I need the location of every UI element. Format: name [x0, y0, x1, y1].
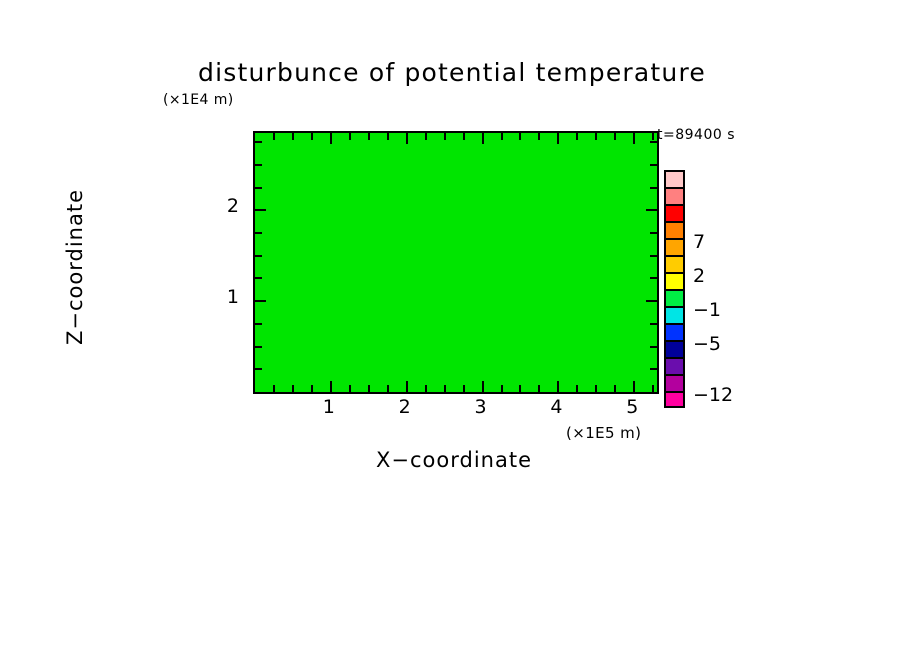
x-tick [406, 133, 408, 144]
contour-plot-area [253, 131, 659, 394]
x-tick [576, 385, 578, 392]
x-axis-title: X−coordinate [253, 448, 655, 472]
x-tick [501, 385, 503, 392]
x-tick-label: 2 [385, 396, 425, 418]
y-tick [650, 368, 657, 370]
x-tick [557, 381, 559, 392]
y-tick [650, 187, 657, 189]
x-tick [633, 381, 635, 392]
x-tick [368, 133, 370, 140]
y-tick [650, 277, 657, 279]
y-tick [255, 346, 262, 348]
y-tick [255, 323, 262, 325]
y-tick [650, 141, 657, 143]
x-tick-label: 4 [536, 396, 576, 418]
colorbar-label: 2 [693, 265, 705, 287]
x-tick [349, 133, 351, 140]
colorbar-band [664, 357, 685, 374]
y-tick [650, 255, 657, 257]
colorbar-band [664, 255, 685, 272]
x-tick [406, 381, 408, 392]
colorbar-band [664, 323, 685, 340]
y-tick [255, 141, 262, 143]
x-tick [273, 385, 275, 392]
x-tick [311, 385, 313, 392]
colorbar-band [664, 238, 685, 255]
colorbar-band [664, 340, 685, 357]
x-tick [368, 385, 370, 392]
x-tick [292, 385, 294, 392]
x-tick [614, 385, 616, 392]
temperature-field [255, 133, 657, 392]
z-axis-unit-label: (×1E4 m) [163, 92, 234, 108]
y-tick [255, 255, 262, 257]
y-tick [650, 164, 657, 166]
colorbar-band [664, 170, 685, 187]
x-tick [538, 385, 540, 392]
x-tick [482, 381, 484, 392]
x-tick [519, 133, 521, 140]
x-tick [519, 385, 521, 392]
x-axis-unit-label: (×1E5 m) [566, 424, 641, 442]
x-tick [425, 133, 427, 140]
x-tick [482, 133, 484, 144]
colorbar-label: −1 [693, 299, 721, 321]
y-tick-label: 2 [213, 195, 239, 217]
x-tick [330, 133, 332, 144]
colorbar-band [664, 374, 685, 391]
x-tick [652, 385, 654, 392]
y-tick [646, 300, 657, 302]
colorbar-band [664, 204, 685, 221]
y-axis-title: Z−coordinate [63, 137, 87, 397]
x-tick [538, 133, 540, 140]
time-annotation: t=89400 s [657, 127, 735, 143]
y-tick [255, 368, 262, 370]
y-tick [255, 164, 262, 166]
x-tick [387, 133, 389, 140]
x-tick [387, 385, 389, 392]
x-tick-label: 1 [309, 396, 349, 418]
y-tick [650, 232, 657, 234]
x-tick [425, 385, 427, 392]
colorbar-band [664, 187, 685, 204]
colorbar-band [664, 289, 685, 306]
colorbar-label: −12 [693, 384, 733, 406]
x-tick [444, 133, 446, 140]
colorbar-label: 7 [693, 231, 705, 253]
chart-title: disturbunce of potential temperature [0, 58, 904, 87]
y-tick [650, 323, 657, 325]
x-tick [576, 133, 578, 140]
x-tick [349, 385, 351, 392]
colorbar-band [664, 272, 685, 289]
x-tick-label: 5 [612, 396, 652, 418]
x-tick [633, 133, 635, 144]
x-tick [614, 133, 616, 140]
y-tick [646, 209, 657, 211]
x-tick [463, 385, 465, 392]
colorbar-band [664, 306, 685, 323]
y-tick [255, 277, 262, 279]
y-tick [255, 209, 266, 211]
y-tick [255, 187, 262, 189]
colorbar [664, 170, 685, 408]
y-tick [650, 346, 657, 348]
y-tick [255, 300, 266, 302]
x-tick [463, 133, 465, 140]
y-tick-label: 1 [213, 286, 239, 308]
x-tick [501, 133, 503, 140]
x-tick [557, 133, 559, 144]
x-tick [652, 133, 654, 140]
x-tick [330, 381, 332, 392]
x-tick [292, 133, 294, 140]
colorbar-band [664, 391, 685, 408]
x-tick-label: 3 [461, 396, 501, 418]
colorbar-label: −5 [693, 333, 721, 355]
x-tick [595, 385, 597, 392]
colorbar-band [664, 221, 685, 238]
x-tick [273, 133, 275, 140]
y-tick [255, 232, 262, 234]
x-tick [595, 133, 597, 140]
x-tick [444, 385, 446, 392]
x-tick [311, 133, 313, 140]
